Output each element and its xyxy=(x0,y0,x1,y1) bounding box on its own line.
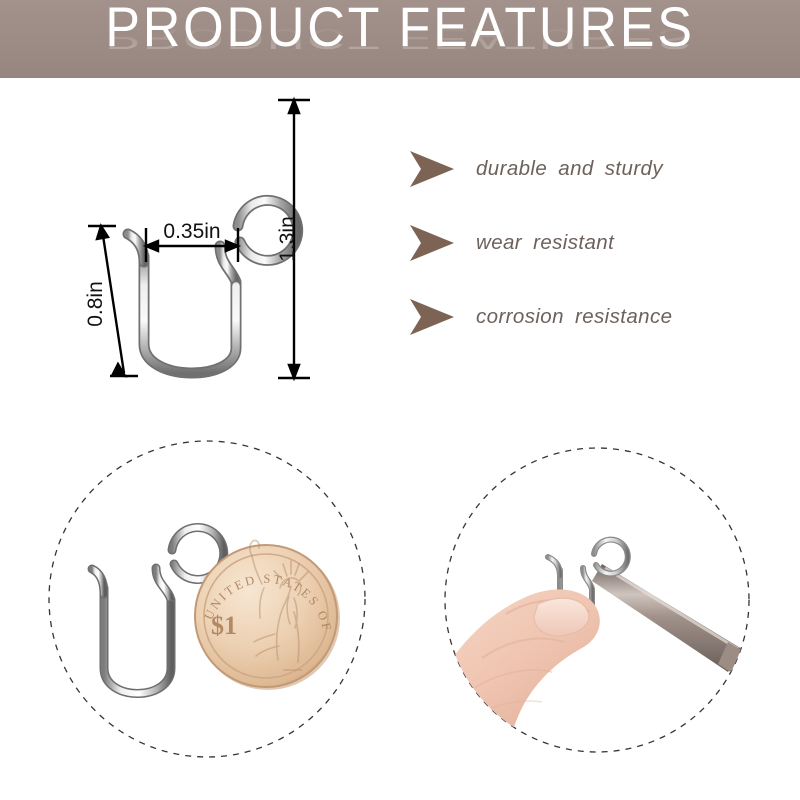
product-features-infographic: PRODUCT FEATURES PRODUCT FEATURES xyxy=(0,0,800,800)
photo-in-use xyxy=(442,444,752,756)
feature-item: durable and sturdy xyxy=(408,132,778,206)
hand xyxy=(406,589,600,766)
photo-size-comparison: $1 UNITED STATES OF AMERICA xyxy=(46,438,368,760)
dimension-label-width: 0.35in xyxy=(163,220,220,243)
dimension-label-hook-height: 0.8in xyxy=(84,281,107,327)
feature-list: durable and sturdy wear resistant corros… xyxy=(408,132,778,354)
hook-dimension-svg: 0.35in 0.8in 1.3in xyxy=(70,86,400,406)
feature-item: wear resistant xyxy=(408,206,778,280)
arrow-right-icon xyxy=(408,295,460,339)
metal-rod-tool xyxy=(592,564,758,682)
feature-item: corrosion resistance xyxy=(408,280,778,354)
feature-label: corrosion resistance xyxy=(476,305,672,329)
feature-label: durable and sturdy xyxy=(476,157,663,181)
header-banner: PRODUCT FEATURES PRODUCT FEATURES xyxy=(0,0,800,78)
page-title: PRODUCT FEATURES xyxy=(28,0,772,58)
dimension-diagram: 0.35in 0.8in 1.3in xyxy=(70,86,400,406)
dollar-coin: $1 UNITED STATES OF AMERICA xyxy=(39,427,340,690)
feature-label: wear resistant xyxy=(476,231,614,255)
arrow-right-icon xyxy=(408,221,460,265)
dimension-label-total-height: 1.3in xyxy=(276,216,299,262)
arrow-right-icon xyxy=(408,147,460,191)
